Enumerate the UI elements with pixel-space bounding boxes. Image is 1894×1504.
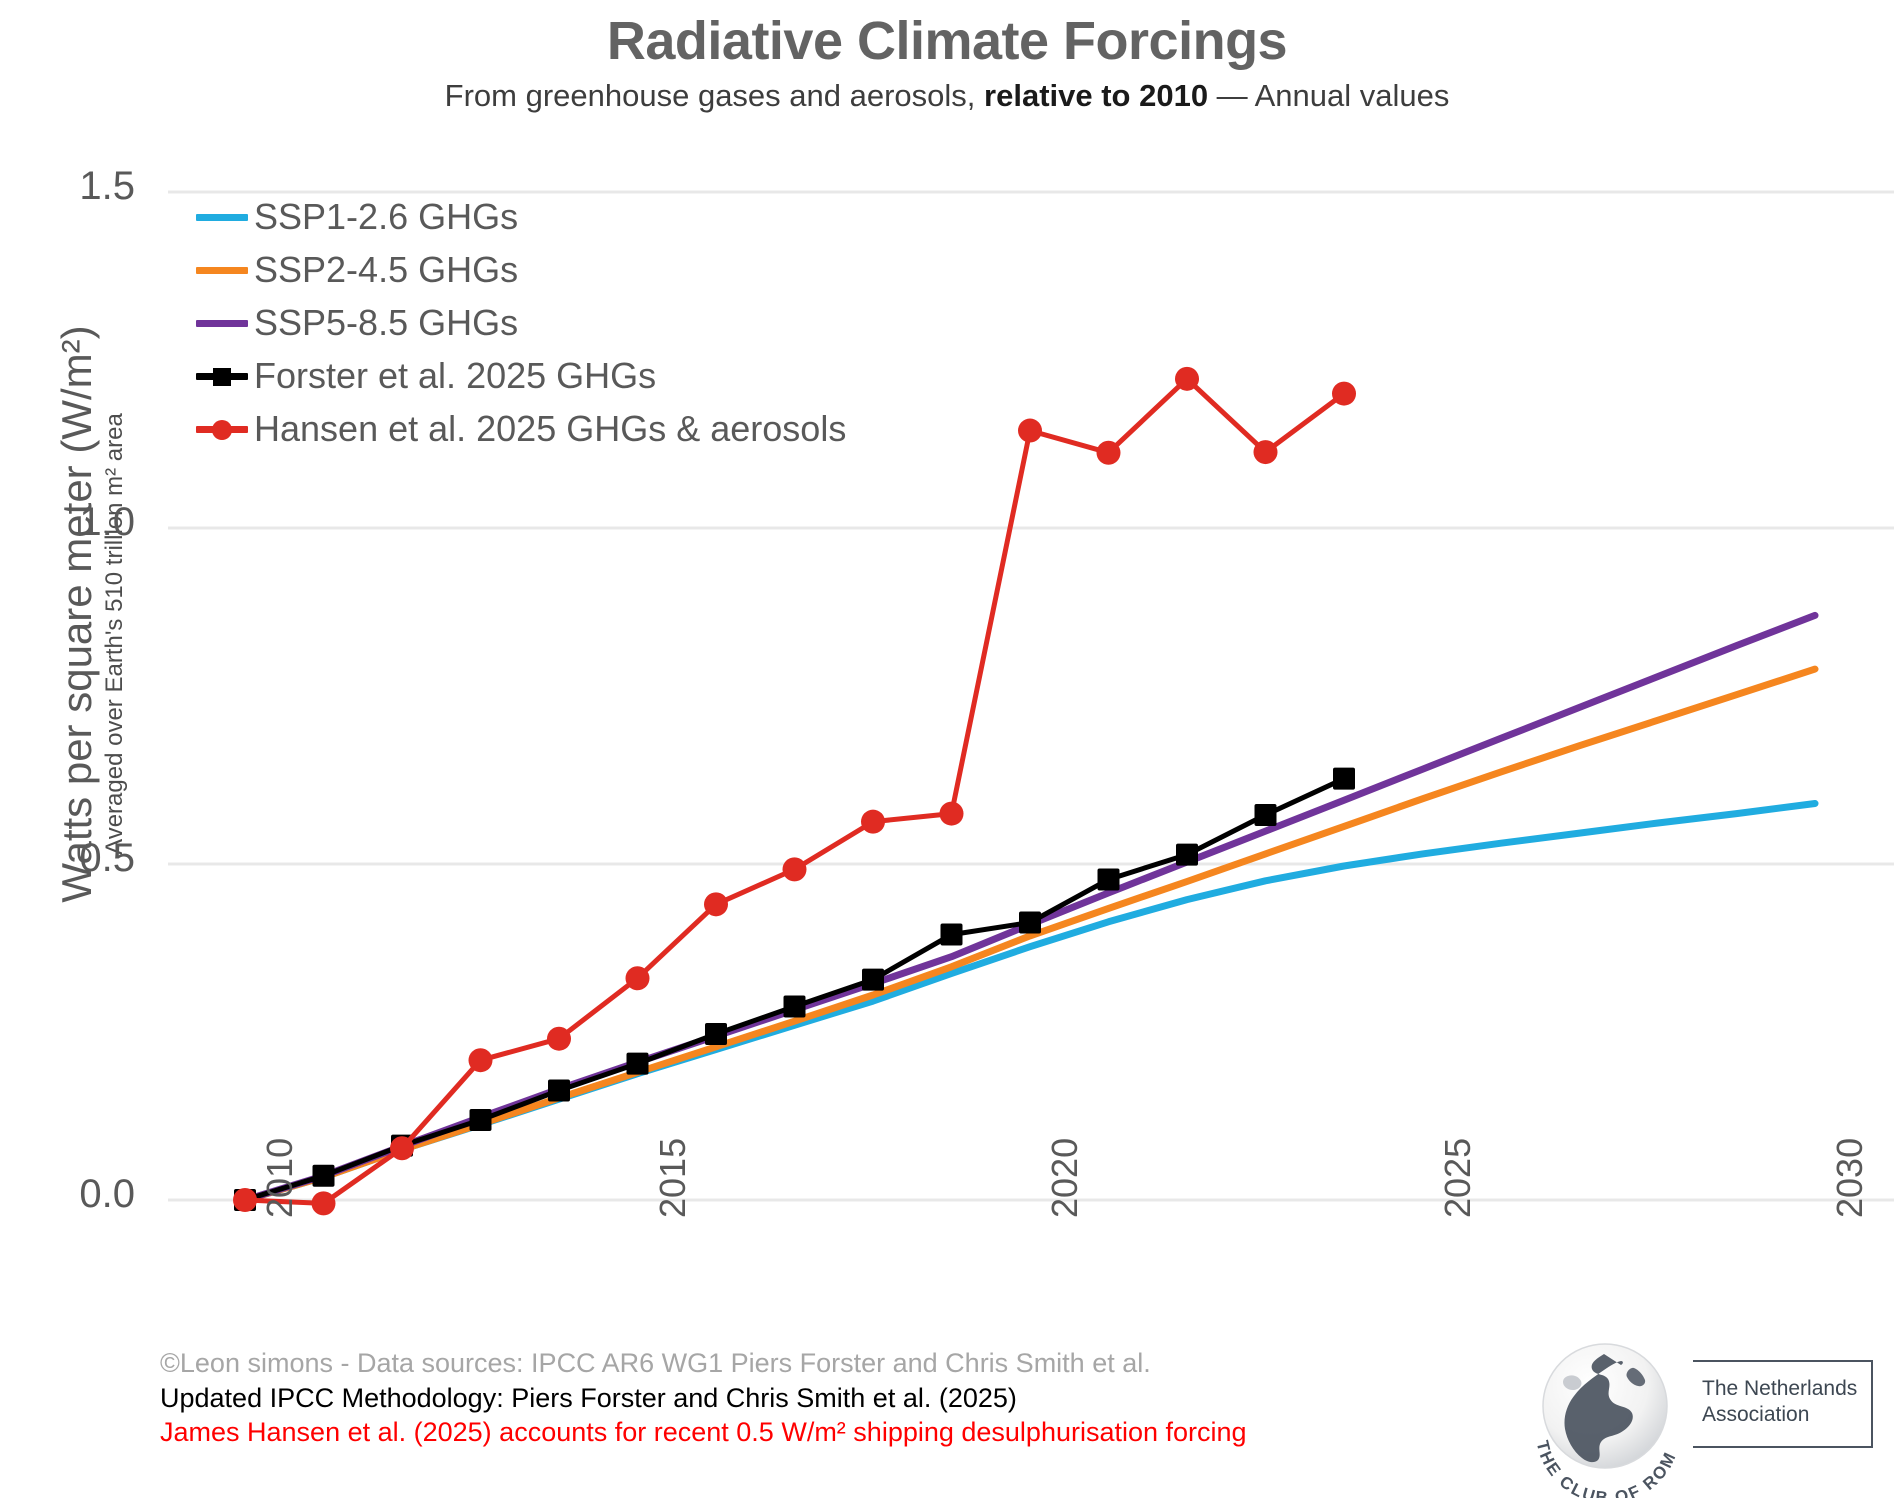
data-point[interactable] xyxy=(1018,419,1042,443)
data-point[interactable] xyxy=(233,1188,257,1212)
data-point[interactable] xyxy=(861,810,885,834)
x-tick-label: 2020 xyxy=(1044,1138,1086,1218)
data-point[interactable] xyxy=(862,969,884,991)
series-layer xyxy=(233,367,1815,1216)
chart-root: Radiative Climate Forcings From greenhou… xyxy=(0,0,1894,1504)
data-point[interactable] xyxy=(1254,440,1278,464)
legend-label: SSP5-8.5 GHGs xyxy=(254,305,518,341)
legend-swatch-icon xyxy=(196,359,248,393)
data-point[interactable] xyxy=(627,1053,649,1075)
legend-label: Forster et al. 2025 GHGs xyxy=(254,358,656,394)
na-line2: Association xyxy=(1702,1402,1857,1428)
legend-item-3[interactable]: Forster et al. 2025 GHGs xyxy=(196,349,846,402)
x-tick-label: 2030 xyxy=(1829,1138,1871,1218)
y-tick-label: 0.0 xyxy=(15,1172,135,1217)
legend-swatch-icon xyxy=(196,412,248,446)
data-point[interactable] xyxy=(1175,367,1199,391)
series-hansen-et-al-2025-ghgs-aerosols xyxy=(233,367,1356,1216)
data-point[interactable] xyxy=(626,966,650,990)
data-point[interactable] xyxy=(548,1079,570,1101)
netherlands-association-text: The Netherlands Association xyxy=(1702,1376,1857,1427)
y-tick-label: 0.5 xyxy=(15,836,135,881)
legend-label: SSP1-2.6 GHGs xyxy=(254,199,518,235)
data-point[interactable] xyxy=(312,1191,336,1215)
club-of-rome-arc-text: THE CLUB OF ROME xyxy=(1528,1338,1688,1498)
x-tick-label: 2015 xyxy=(652,1138,694,1218)
legend-marker-square xyxy=(213,368,231,386)
x-tick-label: 2010 xyxy=(259,1138,301,1218)
data-point[interactable] xyxy=(783,857,807,881)
data-point[interactable] xyxy=(1255,804,1277,826)
data-point[interactable] xyxy=(470,1109,492,1131)
data-point[interactable] xyxy=(941,924,963,946)
data-point[interactable] xyxy=(1098,868,1120,890)
svg-text:THE CLUB OF ROME: THE CLUB OF ROME xyxy=(1528,1338,1680,1498)
data-point[interactable] xyxy=(469,1048,493,1072)
footer-line-sources: ©Leon simons - Data sources: IPCC AR6 WG… xyxy=(160,1346,1247,1381)
legend-label: Hansen et al. 2025 GHGs & aerosols xyxy=(254,411,846,447)
data-point[interactable] xyxy=(940,802,964,826)
legend-item-1[interactable]: SSP2-4.5 GHGs xyxy=(196,243,846,296)
legend-label: SSP2-4.5 GHGs xyxy=(254,252,518,288)
club-of-rome-logo: THE CLUB OF ROME The Netherlands Associa… xyxy=(1530,1338,1880,1498)
footer-credits: ©Leon simons - Data sources: IPCC AR6 WG… xyxy=(160,1346,1247,1450)
chart-legend: SSP1-2.6 GHGsSSP2-4.5 GHGsSSP5-8.5 GHGsF… xyxy=(196,190,846,455)
data-point[interactable] xyxy=(704,892,728,916)
series-line xyxy=(245,379,1344,1204)
legend-item-4[interactable]: Hansen et al. 2025 GHGs & aerosols xyxy=(196,402,846,455)
y-tick-label: 1.0 xyxy=(15,500,135,545)
data-point[interactable] xyxy=(1333,768,1355,790)
legend-swatch-icon xyxy=(196,200,248,234)
legend-item-2[interactable]: SSP5-8.5 GHGs xyxy=(196,296,846,349)
data-point[interactable] xyxy=(1097,441,1121,465)
data-point[interactable] xyxy=(705,1023,727,1045)
footer-line-hansen-note: James Hansen et al. (2025) accounts for … xyxy=(160,1415,1247,1450)
data-point[interactable] xyxy=(313,1165,335,1187)
data-point[interactable] xyxy=(784,995,806,1017)
legend-swatch-icon xyxy=(196,253,248,287)
data-point[interactable] xyxy=(1332,382,1356,406)
data-point[interactable] xyxy=(1176,844,1198,866)
data-point[interactable] xyxy=(547,1027,571,1051)
footer-line-methodology: Updated IPCC Methodology: Piers Forster … xyxy=(160,1381,1247,1416)
na-line1: The Netherlands xyxy=(1702,1376,1857,1402)
legend-swatch-icon xyxy=(196,306,248,340)
legend-marker-circle xyxy=(212,420,232,440)
data-point[interactable] xyxy=(1019,911,1041,933)
x-tick-label: 2025 xyxy=(1437,1138,1479,1218)
data-point[interactable] xyxy=(390,1136,414,1160)
legend-item-0[interactable]: SSP1-2.6 GHGs xyxy=(196,190,846,243)
y-tick-label: 1.5 xyxy=(15,164,135,209)
